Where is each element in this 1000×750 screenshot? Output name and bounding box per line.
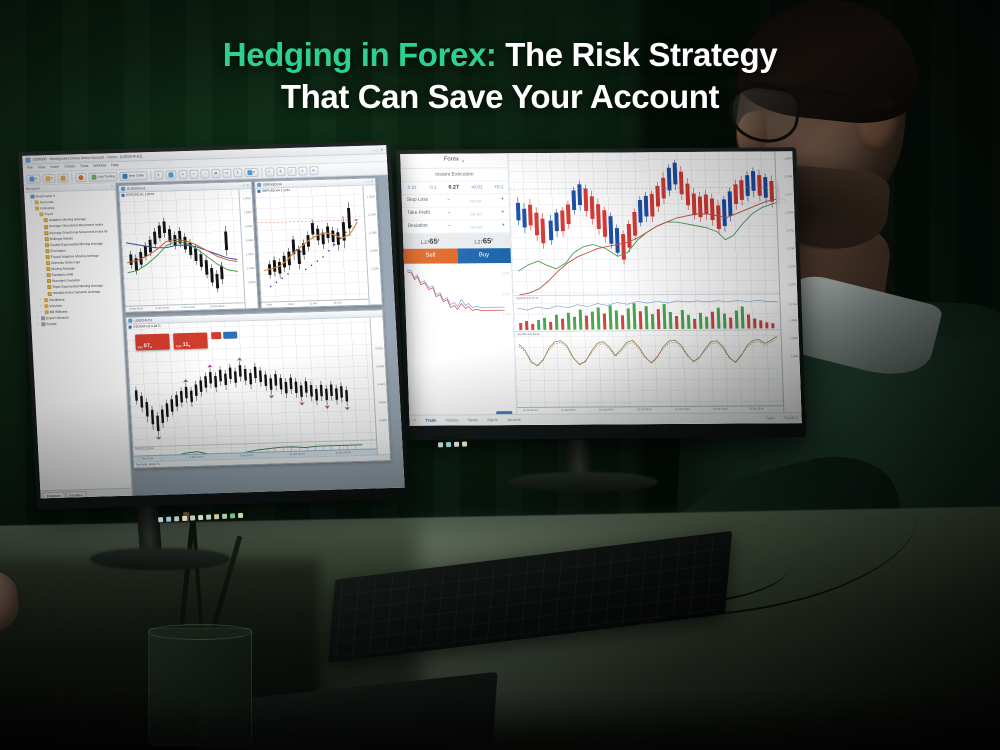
headline-accent: Hedging in Forex: [223, 36, 497, 73]
foreground-shadow [0, 690, 1000, 750]
led-r4 [462, 441, 467, 446]
led-8 [214, 514, 219, 519]
led-1 [158, 517, 163, 522]
led-10 [230, 513, 235, 518]
led-r3 [454, 442, 459, 447]
headline-line-1-rest: The Risk Strategy [496, 36, 777, 73]
led-r1 [438, 442, 443, 447]
led-3 [174, 516, 179, 521]
headline-line-2: That Can Save Your Account [120, 76, 880, 118]
led-11 [238, 513, 243, 518]
led-r2 [446, 442, 451, 447]
headline-line-1: Hedging in Forex: The Risk Strategy [120, 34, 880, 76]
led-7 [206, 515, 211, 520]
led-4 [182, 516, 187, 521]
led-5 [190, 515, 195, 520]
headline-block: Hedging in Forex: The Risk Strategy That… [0, 34, 1000, 117]
led-2 [166, 517, 171, 522]
led-6 [198, 515, 203, 520]
scene-root: Forex ▾ Instant Execution -0.01 -0.1 0.2… [0, 0, 1000, 750]
led-9 [222, 514, 227, 519]
